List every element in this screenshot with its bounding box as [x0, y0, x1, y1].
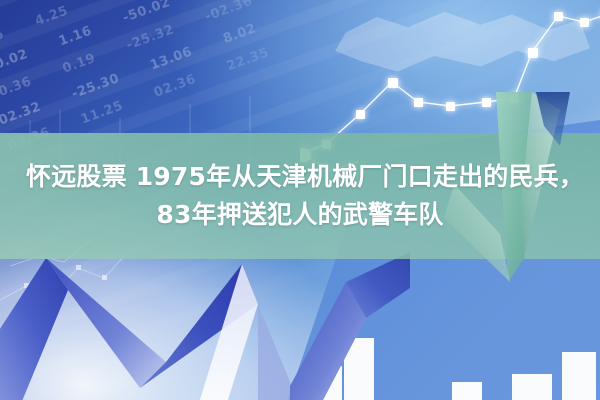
headline-line-1: 怀远股票 1975年从天津机械厂门口走出的民兵， [26, 161, 584, 194]
headline-block: 怀远股票 1975年从天津机械厂门口走出的民兵， 83年押送犯人的武警车队 [0, 133, 600, 259]
banner-image: -02.36 -11.25 +5.02 21.05 -50.02 -02.36 … [0, 0, 600, 400]
headline-line-2: 83年押送犯人的武警车队 [156, 199, 443, 232]
zigzag-arrow-ribbon [0, 236, 410, 400]
